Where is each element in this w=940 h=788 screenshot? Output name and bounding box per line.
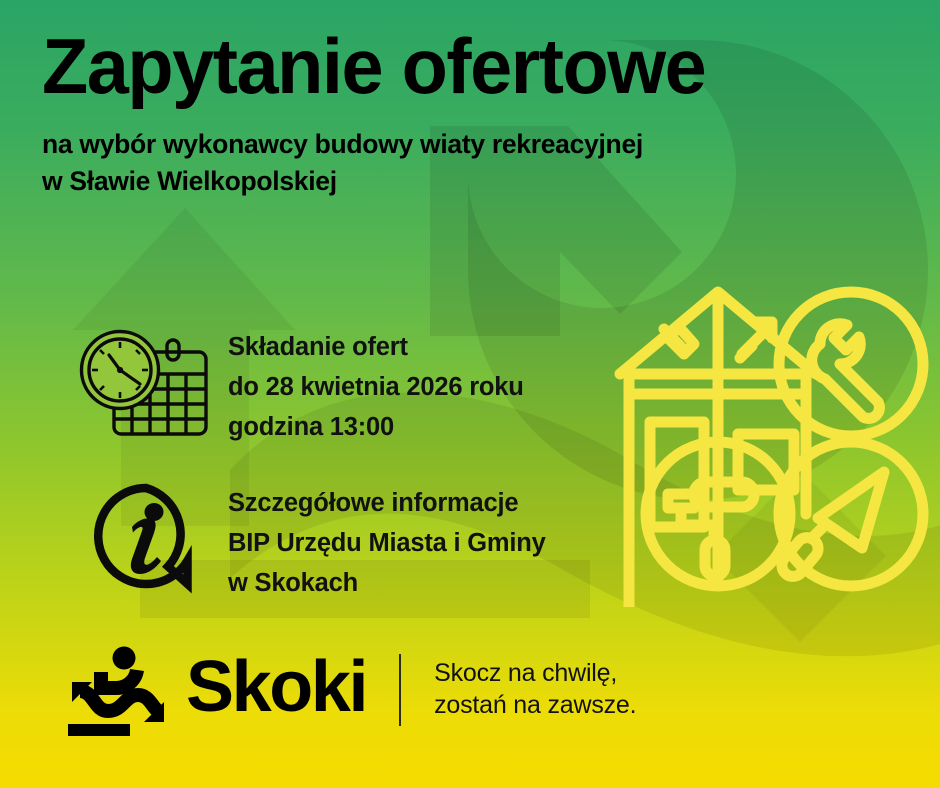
deadline-line-1: Składanie ofert bbox=[228, 328, 524, 368]
info-row-details: Szczegółowe informacje BIP Urzędu Miasta… bbox=[70, 478, 546, 603]
construction-house-tools-illustration bbox=[606, 282, 936, 607]
brand-divider bbox=[399, 654, 401, 726]
clock-calendar-icon bbox=[70, 322, 220, 442]
skoki-running-figure-logo bbox=[60, 644, 172, 736]
brand-bar: Skoki Skocz na chwilę, zostań na zawsze. bbox=[60, 644, 636, 736]
details-line-1: Szczegółowe informacje bbox=[228, 484, 546, 524]
page-title: Zapytanie ofertowe bbox=[42, 28, 896, 104]
subtitle-line-2: w Sławie Wielkopolskiej bbox=[42, 163, 922, 200]
page-subtitle: na wybór wykonawcy budowy wiaty rekreacy… bbox=[42, 126, 922, 199]
deadline-line-2: do 28 kwietnia 2026 roku bbox=[228, 368, 524, 408]
brand-tagline: Skocz na chwilę, zostań na zawsze. bbox=[434, 657, 636, 724]
info-row-deadline: Składanie ofert do 28 kwietnia 2026 roku… bbox=[70, 322, 524, 447]
tagline-line-1: Skocz na chwilę, bbox=[434, 657, 636, 690]
details-line-2: BIP Urzędu Miasta i Gminy bbox=[228, 524, 546, 564]
headline-block: Zapytanie ofertowe na wybór wykonawcy bu… bbox=[42, 28, 922, 200]
deadline-line-3: godzina 13:00 bbox=[228, 408, 524, 448]
tagline-line-2: zostań na zawsze. bbox=[434, 689, 636, 722]
details-line-3: w Skokach bbox=[228, 564, 546, 604]
deadline-text: Składanie ofert do 28 kwietnia 2026 roku… bbox=[228, 322, 524, 447]
poster-canvas: Zapytanie ofertowe na wybór wykonawcy bu… bbox=[0, 0, 940, 788]
subtitle-line-1: na wybór wykonawcy budowy wiaty rekreacy… bbox=[42, 126, 922, 163]
brand-wordmark: Skoki bbox=[186, 651, 366, 729]
info-bubble-icon bbox=[70, 478, 220, 596]
details-text: Szczegółowe informacje BIP Urzędu Miasta… bbox=[228, 478, 546, 603]
